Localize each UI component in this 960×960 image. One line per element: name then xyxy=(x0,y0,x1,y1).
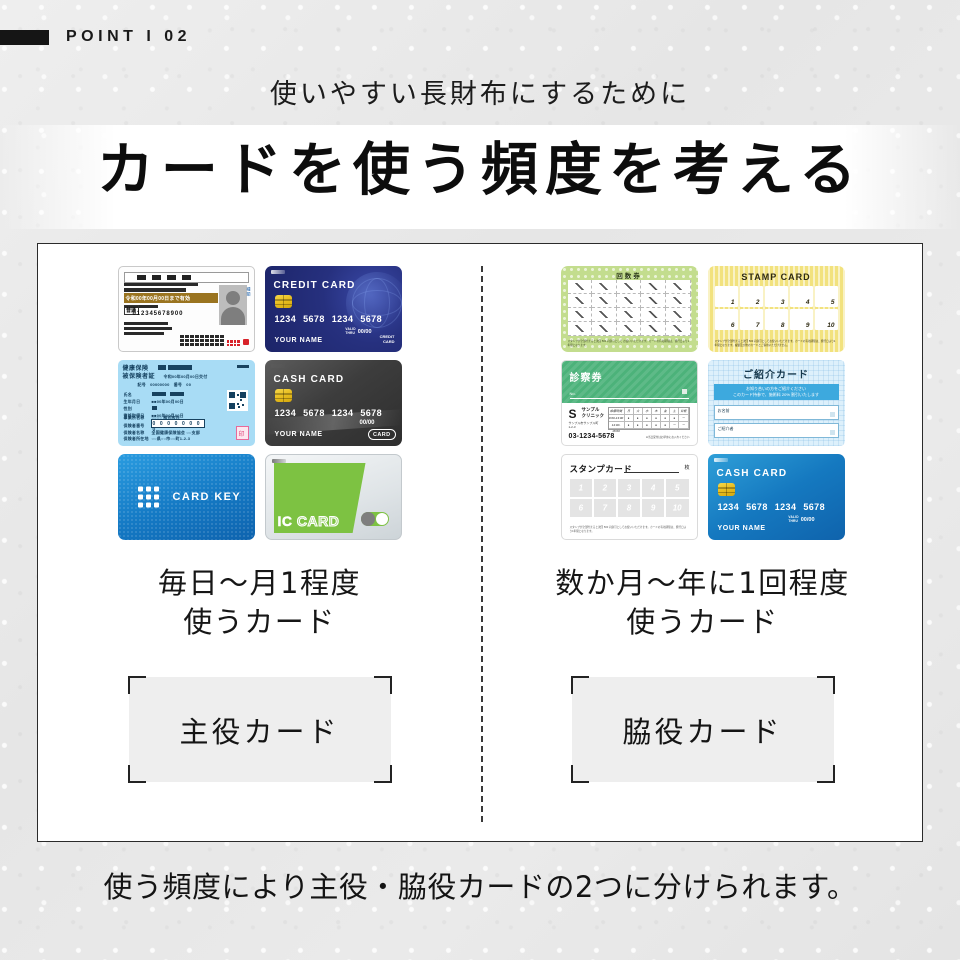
medical-card-square xyxy=(682,389,687,394)
qr-code-icon xyxy=(227,390,248,411)
referral-field-name[interactable]: お名前 xyxy=(714,405,839,420)
license-footer-lines xyxy=(124,322,184,337)
stamp-cell: 6 xyxy=(579,503,583,512)
stamp-cell: 5 xyxy=(831,299,835,306)
bracket-corner-tr xyxy=(374,676,392,694)
referral-field-referrer[interactable]: ご紹介者 xyxy=(714,423,839,438)
cc-num-3: 1234 xyxy=(332,314,354,324)
cash-blue-number: 1234 5678 1234 5678 xyxy=(718,502,826,512)
stamp-white-title: スタンプカード xyxy=(570,463,633,475)
card-health-insurance[interactable]: 健康保険被保険者証 令和00年00月00日交付 記号 00000000 番号 0… xyxy=(118,360,255,446)
caption-right-line1: 数か月〜年に1回程度 xyxy=(481,564,924,603)
stamp-yellow-title: STAMP CARD xyxy=(708,272,845,282)
cash-blue-holder: YOUR NAME xyxy=(718,525,766,532)
ic-title-outline: CARD xyxy=(297,513,339,529)
subtitle: 使いやすい長財布にするために xyxy=(0,72,960,111)
coupon-title: 回数券 xyxy=(561,270,698,280)
card-stamp-card-yellow[interactable]: STAMP CARD 1 2 3 4 5 6 7 8 9 10 スタンプが全部貯… xyxy=(708,266,845,352)
bank-logo-icon xyxy=(271,270,285,274)
insurance-seal xyxy=(236,426,249,440)
stamp-yellow-cells: 1 2 3 4 5 6 7 8 9 10 xyxy=(715,286,838,330)
stamp-cell: 1 xyxy=(579,484,583,493)
cash-blue-thru-value: 00/00 xyxy=(801,517,815,523)
card-ic-card[interactable]: IC CARD xyxy=(265,454,402,540)
cash-blue-num-4: 5678 xyxy=(803,502,825,512)
cash-card-number: 1234 5678 1234 5678 xyxy=(275,408,383,418)
credit-card-holder: YOUR NAME xyxy=(275,337,323,344)
card-coupon-book[interactable]: 回数券 スタンプが全部貯まると次回 500 円割引として お使いいただけます。カ… xyxy=(561,266,698,352)
stamp-white-cells: 1 2 3 4 5 6 7 8 9 10 xyxy=(570,479,689,517)
caption-right-line2: 使うカード xyxy=(481,603,924,642)
coupon-grid xyxy=(568,280,691,336)
stamp-cell: 3 xyxy=(781,299,785,306)
card-credit-card[interactable]: CREDIT CARD 1234 5678 1234 5678 VALIDTHR… xyxy=(265,266,402,352)
card-medical-card[interactable]: 診察券 No. S サンプルクリニック サンプル市サンプル町1-2-3 03-1… xyxy=(561,360,698,446)
bracket-corner-tr xyxy=(817,676,835,694)
cash-num-3: 1234 xyxy=(332,408,354,418)
point-bar-icon xyxy=(0,30,49,45)
caption-right: 数か月〜年に1回程度 使うカード xyxy=(481,564,924,642)
caption-left-line2: 使うカード xyxy=(38,603,481,642)
stamp-white-fineprint: スタンプが全部貯まると次回 500 円割引としてお使いいただけます。カードの有効… xyxy=(570,526,689,534)
cash-card-holder: YOUR NAME xyxy=(275,431,323,438)
cash-card-expiry: 00/00 xyxy=(359,420,374,426)
card-grid-right: 回数券 スタンプが全部貯まると次回 500 円割引として お使いいただけます。カ… xyxy=(481,266,924,556)
stamp-cell: 1 xyxy=(731,299,735,306)
stamp-cell: 5 xyxy=(675,484,679,493)
stamp-cell: 7 xyxy=(603,503,607,512)
emv-chip-icon xyxy=(275,389,292,402)
cash-card-brand: CARD xyxy=(368,429,396,440)
medical-card-no-label: No. xyxy=(570,391,576,396)
cc-num-2: 5678 xyxy=(303,314,325,324)
emv-chip-icon xyxy=(275,295,292,308)
bank-logo-icon xyxy=(271,364,285,368)
referral-band-line2: このカード持参で、施術料 20% 割引いたします xyxy=(714,392,839,398)
cash-card-title: CASH CARD xyxy=(274,374,345,385)
bank-logo-icon xyxy=(714,458,728,462)
clinic-note: ※当日受付はお早めにお入れください xyxy=(646,435,690,439)
stamp-cell: 8 xyxy=(781,322,785,329)
insurance-title: 健康保険被保険者証 xyxy=(123,365,156,381)
clinic-address: サンプル市サンプル町1-2-3 xyxy=(569,421,599,429)
card-grid-left: 令和00年00月00日まで有効 普通 012345678900 種類 xyxy=(38,266,481,556)
toggle-icon xyxy=(361,512,389,526)
stamp-cell: 10 xyxy=(673,503,682,512)
license-vertical-text: 種類 xyxy=(246,287,251,297)
point-header: POINT I 02 xyxy=(0,26,191,48)
insurance-number-box: 0 0 0 0 0 0 0 0 xyxy=(151,419,205,428)
bracket-corner-br xyxy=(817,765,835,783)
badge-support-card-label: 脇役カード xyxy=(572,709,834,751)
stamp-cell: 2 xyxy=(756,299,760,306)
credit-card-brand: CREDITCARD xyxy=(380,334,395,344)
referral-band: お知り合いの方をご紹介ください このカード持参で、施術料 20% 割引いたします xyxy=(714,384,839,400)
card-referral-card[interactable]: ご紹介カード お知り合いの方をご紹介ください このカード持参で、施術料 20% … xyxy=(708,360,845,446)
cash-blue-num-1: 1234 xyxy=(718,502,740,512)
referral-field-name-label: お名前 xyxy=(718,408,730,414)
badge-main-card: 主役カード xyxy=(129,677,391,782)
stamp-cell: 9 xyxy=(806,322,810,329)
cash-blue-num-3: 1234 xyxy=(775,502,797,512)
badge-main-card-label: 主役カード xyxy=(129,709,391,751)
license-number: 012345678900 xyxy=(133,311,184,317)
cash-blue-title: CASH CARD xyxy=(717,468,788,479)
coupon-fineprint: スタンプが全部貯まると次回 500 円割引として お使いいただけます。カードの有… xyxy=(568,340,691,348)
page-title: カードを使う頻度を考える xyxy=(0,137,960,203)
page-root: POINT I 02 使いやすい長財布にするために カードを使う頻度を考える xyxy=(0,0,960,960)
stamp-white-rule xyxy=(624,472,679,473)
stamp-cell: 9 xyxy=(651,503,655,512)
cc-thru-value: 00/00 xyxy=(358,329,372,335)
stamp-cell: 4 xyxy=(806,299,810,306)
card-drivers-license[interactable]: 令和00年00月00日まで有効 普通 012345678900 種類 xyxy=(118,266,255,352)
card-cash-card-black[interactable]: CASH CARD 1234 5678 1234 5678 00/00 YOUR… xyxy=(265,360,402,446)
issuer-logo-icon xyxy=(272,459,286,463)
credit-card-title: CREDIT CARD xyxy=(274,280,356,291)
bracket-corner-bl xyxy=(571,765,589,783)
stamp-cell: 2 xyxy=(603,484,607,493)
cash-num-1: 1234 xyxy=(275,408,297,418)
license-photo xyxy=(219,285,247,325)
clinic-hours-table: 診療時間月火水木金土日祝 9:00-13:00●●●●●●ー 14:00-18:… xyxy=(608,407,690,430)
clinic-phone: 03-1234-5678 xyxy=(569,433,615,440)
card-card-key[interactable]: CARD KEY xyxy=(118,454,255,540)
referral-title: ご紹介カード xyxy=(708,366,845,381)
cash-num-2: 5678 xyxy=(303,408,325,418)
column-main-cards: 令和00年00月00日まで有効 普通 012345678900 種類 xyxy=(38,244,481,841)
cash-blue-expiry: VALIDTHRU00/00 xyxy=(788,515,814,523)
content-panel: 令和00年00月00日まで有効 普通 012345678900 種類 xyxy=(37,243,923,842)
clinic-name: サンプルクリニック xyxy=(582,407,605,419)
clinic-initial: S xyxy=(569,408,577,420)
medical-card-title: 診察券 xyxy=(570,369,603,384)
stamp-yellow-fineprint: スタンプが全部貯まると次回 500 円割引としてお使いいただけます。カードの有効… xyxy=(715,340,838,348)
key-dots-icon xyxy=(138,487,159,508)
stamp-cell: 6 xyxy=(731,322,735,329)
card-cash-card-blue[interactable]: CASH CARD 1234 5678 1234 5678 VALIDTHRU0… xyxy=(708,454,845,540)
stamp-cell: 4 xyxy=(651,484,655,493)
footer-note: 使う頻度により主役・脇役カードの2つに分けられます。 xyxy=(0,864,960,906)
referral-field-referrer-label: ご紹介者 xyxy=(718,426,734,432)
credit-card-number: 1234 5678 1234 5678 xyxy=(275,314,383,324)
badge-support-card: 脇役カード xyxy=(572,677,834,782)
license-expiry-band: 令和00年00月00日まで有効 xyxy=(124,293,218,303)
card-key-title: CARD KEY xyxy=(173,491,242,503)
cash-num-4: 5678 xyxy=(360,408,382,418)
emv-chip-icon xyxy=(718,483,735,496)
caption-left: 毎日〜月1程度 使うカード xyxy=(38,564,481,642)
license-red-marks xyxy=(227,340,240,346)
card-stamp-card-white[interactable]: スタンプカード 枚 1 2 3 4 5 6 7 8 9 10 xyxy=(561,454,698,540)
bracket-corner-br xyxy=(374,765,392,783)
ic-title-bold: IC xyxy=(278,513,293,529)
stamp-cell: 8 xyxy=(627,503,631,512)
column-support-cards: 回数券 スタンプが全部貯まると次回 500 円割引として お使いいただけます。カ… xyxy=(481,244,924,841)
license-stamp xyxy=(243,339,249,345)
medical-card-rule xyxy=(570,398,689,399)
bracket-corner-bl xyxy=(128,765,146,783)
license-code-grid xyxy=(180,335,224,346)
bracket-corner-tl xyxy=(571,676,589,694)
cc-num-4: 5678 xyxy=(360,314,382,324)
bracket-corner-tl xyxy=(128,676,146,694)
stamp-white-unit: 枚 xyxy=(684,464,689,471)
credit-card-expiry: VALIDTHRU00/00 xyxy=(345,327,371,335)
point-label: POINT I 02 xyxy=(66,28,191,46)
ic-card-title: IC CARD xyxy=(278,513,340,529)
stamp-cell: 3 xyxy=(627,484,631,493)
caption-left-line1: 毎日〜月1程度 xyxy=(38,564,481,603)
stamp-cell: 10 xyxy=(827,322,834,329)
cash-blue-num-2: 5678 xyxy=(746,502,768,512)
stamp-cell: 7 xyxy=(756,322,760,329)
cc-num-1: 1234 xyxy=(275,314,297,324)
